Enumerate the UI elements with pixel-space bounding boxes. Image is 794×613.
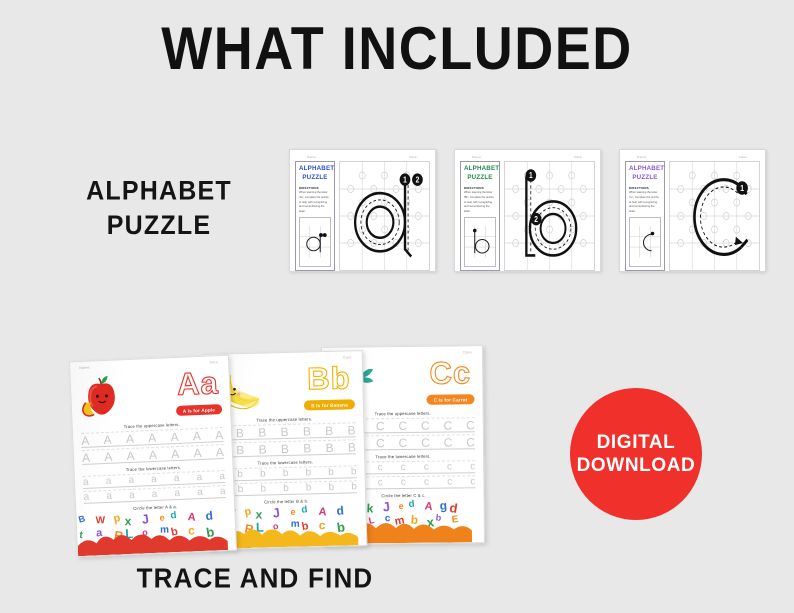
worksheet-big-letter: Cc xyxy=(426,357,474,388)
worksheet-letter-block: Bb B Is for Banana xyxy=(303,362,355,412)
puzzle-instruction-panel: ALPHABET PUZZLE DIRECTIONS When learning… xyxy=(295,161,335,271)
section-label-alphabet-puzzle: ALPHABET PUZZLE xyxy=(54,173,264,242)
worksheet-pill: C Is for Carrot xyxy=(427,395,475,405)
directions-text: When learning the letter 'Bb,' complete … xyxy=(464,191,496,214)
stroke-marker-1: 1 xyxy=(529,171,533,181)
find-letter[interactable]: d xyxy=(301,505,308,516)
puzzle-board-a: 1 2 xyxy=(339,161,430,271)
date-label: Date: xyxy=(463,350,473,354)
puzzle-panel-title: ALPHABET PUZZLE xyxy=(299,165,331,183)
puzzle-preview-thumbnail xyxy=(464,217,496,267)
poster-canvas: WHAT INCLUDED ALPHABET PUZZLE TRACE AND … xyxy=(0,0,794,613)
puzzle-panel-title: ALPHABET PUZZLE xyxy=(629,165,661,183)
puzzle-title-line2: PUZZLE xyxy=(299,174,331,183)
trace-row-uppercase[interactable]: AAAAAAA xyxy=(82,444,225,465)
find-letter[interactable]: e xyxy=(398,502,404,511)
date-label: Date: xyxy=(409,155,418,159)
directions-heading: DIRECTIONS xyxy=(629,186,661,190)
name-label: Name: xyxy=(307,155,317,159)
name-label: Name: xyxy=(637,155,647,159)
trace-row-lowercase[interactable]: bbbbbbb xyxy=(214,465,356,481)
worksheet-big-letter: Aa xyxy=(174,367,222,400)
find-letter[interactable]: d xyxy=(170,511,178,522)
trace-row-lowercase[interactable]: bbbbbbb xyxy=(215,480,357,496)
worksheet-letter-block: Aa A Is for Apple xyxy=(174,367,222,418)
apple-icon xyxy=(76,371,126,421)
page-title: WHAT INCLUDED xyxy=(0,14,794,83)
name-label: Name: xyxy=(79,366,91,370)
find-letter[interactable]: p xyxy=(243,506,252,518)
digital-download-badge: DIGITAL DOWNLOAD xyxy=(570,388,702,520)
letter-c-thumb-icon xyxy=(630,218,660,266)
puzzle-instruction-panel: ALPHABET PUZZLE DIRECTIONS When learning… xyxy=(625,161,665,271)
badge-line1: DIGITAL xyxy=(597,431,676,454)
find-letter[interactable]: g xyxy=(440,499,448,512)
decorative-wave xyxy=(77,520,237,557)
name-label: Name: xyxy=(472,155,482,159)
section-label-line1: ALPHABET xyxy=(54,173,264,208)
puzzle-title-line1: ALPHABET xyxy=(629,165,661,174)
find-letter[interactable]: d xyxy=(408,500,415,511)
puzzle-title-line1: ALPHABET xyxy=(299,165,331,174)
worksheet-big-letter: Bb xyxy=(303,362,354,394)
worksheet-letter-block: Cc C Is for Carrot xyxy=(426,357,474,406)
trace-row-uppercase[interactable]: BBBBBBB xyxy=(214,439,356,457)
puzzle-preview-thumbnail xyxy=(629,217,661,267)
directions-text: When learning the letter 'Aa,' complete … xyxy=(299,191,331,214)
puzzle-preview-thumbnail xyxy=(299,217,331,267)
find-letter[interactable]: J xyxy=(382,500,391,514)
find-letter[interactable]: e xyxy=(290,508,296,517)
find-letter[interactable]: p xyxy=(112,513,121,525)
worksheet-pill: A Is for Apple xyxy=(176,404,223,415)
badge-line2: DOWNLOAD xyxy=(577,454,696,477)
alphabet-puzzle-card-a: Name: Date: ALPHABET PUZZLE DIRECTIONS W… xyxy=(289,149,436,272)
puzzle-board-b-graphic: 1 2 xyxy=(505,162,594,270)
date-label: Date: xyxy=(739,155,748,159)
letter-b-thumb-icon xyxy=(465,218,495,266)
find-letter[interactable]: B xyxy=(78,514,87,524)
directions-heading: DIRECTIONS xyxy=(464,186,496,190)
trace-row-uppercase[interactable]: BBBBBBB xyxy=(213,422,355,440)
directions-text: When learning the letter 'Cc,' complete … xyxy=(629,191,661,214)
puzzle-board-a-graphic: 1 2 xyxy=(340,162,429,270)
worksheet-pill: B Is for Banana xyxy=(304,400,355,411)
stroke-marker-2: 2 xyxy=(416,175,420,185)
worksheet-card-a: Name: Date: Aa A Is for Apple xyxy=(69,355,237,558)
directions-heading: DIRECTIONS xyxy=(299,186,331,190)
stroke-marker-1: 1 xyxy=(740,183,745,193)
section-label-line2: PUZZLE xyxy=(54,208,264,243)
alphabet-puzzle-card-b: Name: Date: ALPHABET PUZZLE DIRECTIONS W… xyxy=(454,149,601,272)
puzzle-title-line1: ALPHABET xyxy=(464,165,496,174)
stroke-marker-1: 1 xyxy=(403,175,407,185)
puzzle-board-c-graphic: 1 xyxy=(670,162,759,270)
puzzle-instruction-panel: ALPHABET PUZZLE DIRECTIONS When learning… xyxy=(460,161,500,271)
date-label: Date: xyxy=(574,155,583,159)
find-letter[interactable]: e xyxy=(159,514,164,523)
date-label: Date: xyxy=(343,355,353,359)
puzzle-board-c: 1 xyxy=(669,161,760,271)
alphabet-puzzle-card-c: Name: Date: ALPHABET PUZZLE DIRECTIONS W… xyxy=(619,149,766,272)
puzzle-title-line2: PUZZLE xyxy=(629,174,661,183)
section-label-trace-and-find: TRACE AND FIND xyxy=(95,561,415,597)
date-label: Date: xyxy=(209,360,219,364)
puzzle-board-b: 1 2 xyxy=(504,161,595,271)
find-letter[interactable]: A xyxy=(424,501,433,513)
puzzle-title-line2: PUZZLE xyxy=(464,174,496,183)
puzzle-panel-title: ALPHABET PUZZLE xyxy=(464,165,496,183)
stroke-marker-2: 2 xyxy=(534,214,538,224)
letter-a-thumb-icon xyxy=(300,218,330,266)
